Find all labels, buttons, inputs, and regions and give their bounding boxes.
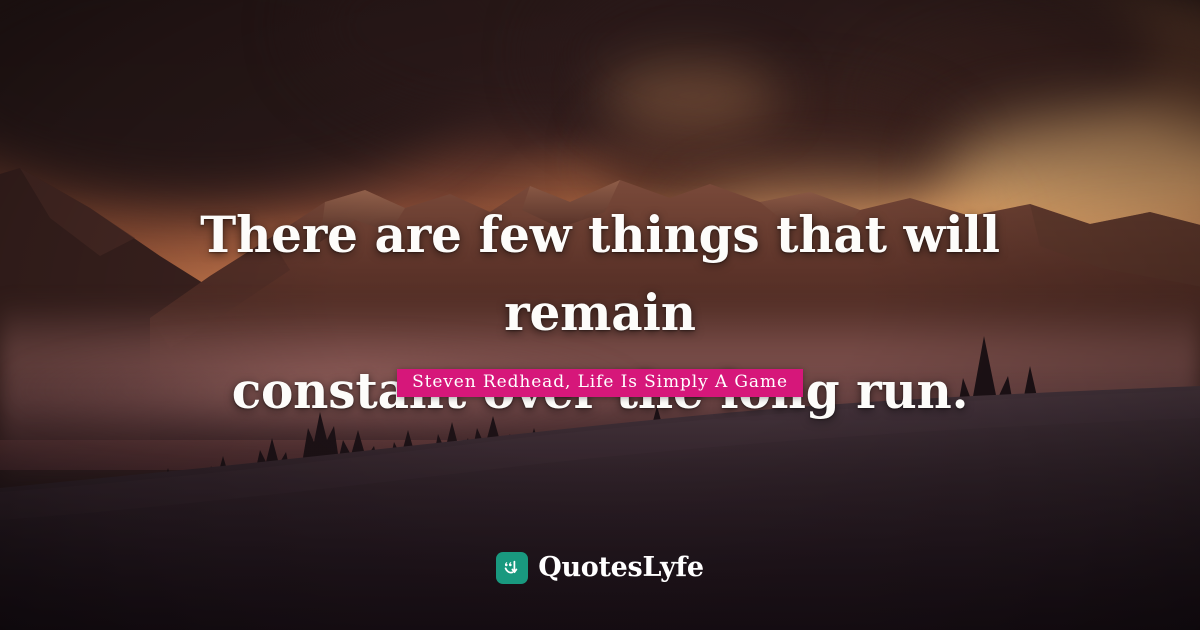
quote-smiley-icon (496, 552, 528, 584)
quote-line-1: There are few things that will remain (134, 196, 1065, 352)
brand-name: QuotesLyfe (538, 553, 704, 583)
author-attribution-badge[interactable]: Steven Redhead, Life Is Simply A Game (397, 369, 803, 397)
author-row: Steven Redhead, Life Is Simply A Game (0, 369, 1200, 397)
quote-card: There are few things that will remain co… (0, 0, 1200, 630)
brand-logo[interactable]: QuotesLyfe (0, 552, 1200, 584)
